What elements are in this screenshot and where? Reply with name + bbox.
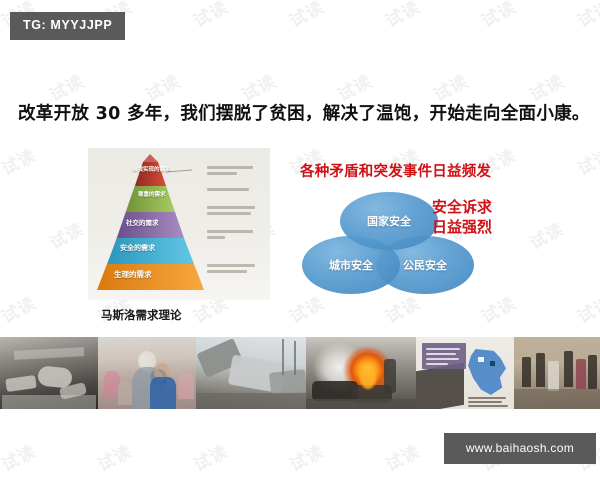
watermark-text: 试读: [476, 289, 520, 328]
venn-circle-label-3: 公民安全: [403, 257, 447, 273]
photo-news-infographic-province-map: [416, 337, 514, 409]
pyramid-level-label-5: 生理的需求: [114, 269, 152, 280]
pyramid-level-label-2: 尊重的需求: [138, 190, 166, 198]
watermark-text: 试读: [476, 0, 520, 32]
maslow-pyramid-figure: 自我实现的需求 尊重的需求 社交的需求 安全的需求 生理的需求: [88, 148, 270, 300]
watermark-text: 试读: [188, 0, 232, 32]
photo-strip: [0, 337, 600, 409]
watermark-text: 试读: [524, 215, 568, 254]
photo-collapsed-building-rubble: [0, 337, 98, 409]
venn-heading: 各种矛盾和突发事件日益频发: [300, 160, 491, 181]
watermark-text: 试读: [572, 141, 600, 180]
venn-side-text-line2: 日益强烈: [432, 218, 492, 238]
photo-people-on-street-incident: [514, 337, 600, 409]
watermark-text: 试读: [380, 437, 424, 476]
photo-rescue-worker-carrying-child: [98, 337, 196, 409]
watermark-text: 试读: [572, 289, 600, 328]
watermark-text: 试读: [92, 437, 136, 476]
pyramid-level-label-4: 安全的需求: [120, 243, 155, 253]
watermark-text: 试读: [380, 0, 424, 32]
site-url-badge: www.baihaosh.com: [444, 433, 596, 464]
watermark-text: 试读: [572, 0, 600, 32]
watermark-text: 试读: [0, 289, 40, 328]
venn-side-text-line1: 安全诉求: [432, 198, 492, 218]
photo-derailed-train-wreck: [196, 337, 306, 409]
photo-burning-vehicles-street-unrest: [306, 337, 416, 409]
watermark-text: 试读: [284, 437, 328, 476]
pyramid-caption: 马斯洛需求理论: [101, 307, 182, 323]
venn-circle-label-2: 城市安全: [329, 257, 373, 273]
watermark-text: 试读: [284, 0, 328, 32]
venn-side-text: 安全诉求 日益强烈: [432, 198, 492, 238]
pyramid-level-label-3: 社交的需求: [126, 217, 159, 227]
pyramid-level-label-1: 自我实现的需求: [132, 165, 171, 173]
watermark-text: 试读: [44, 215, 88, 254]
watermark-text: 试读: [0, 437, 40, 476]
watermark-text: 试读: [188, 437, 232, 476]
slide-headline: 改革开放 30 多年，我们摆脱了贫困，解决了温饱，开始走向全面小康。: [18, 100, 590, 125]
watermark-text: 试读: [0, 141, 40, 180]
venn-circle-national-security: 国家安全: [340, 192, 438, 250]
tg-watermark-badge: TG: MYYJJPP: [10, 12, 125, 40]
venn-circle-label-1: 国家安全: [367, 213, 411, 229]
